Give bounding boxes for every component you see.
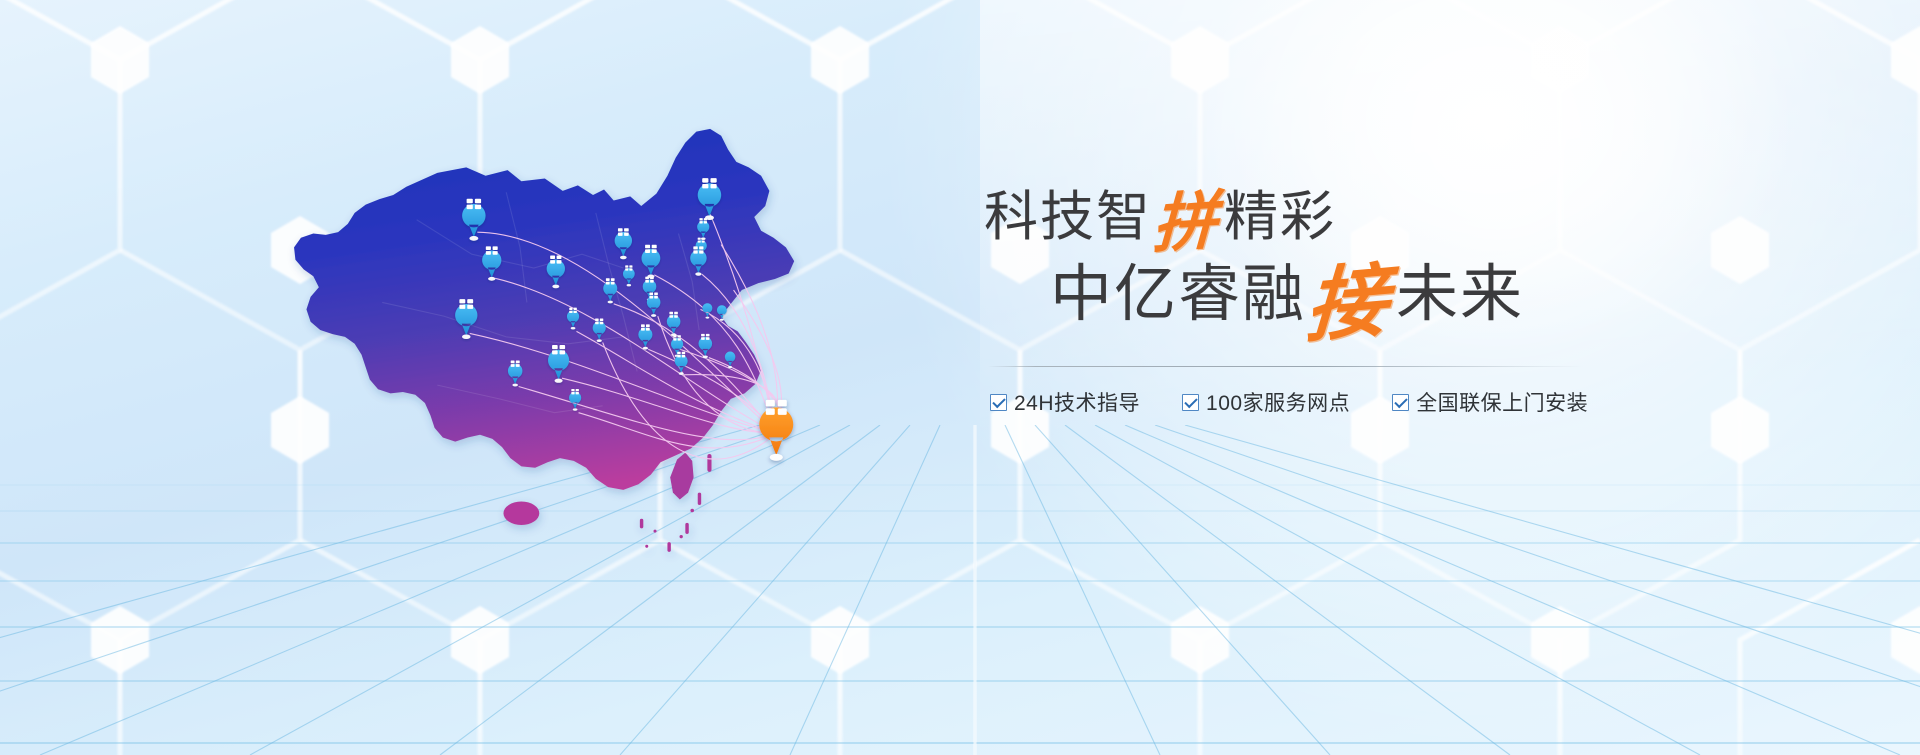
pin-base-dot bbox=[643, 347, 648, 350]
feature-label: 24H技术指导 bbox=[1014, 387, 1140, 417]
hero-banner: 科技智拼精彩 中亿睿融接未来 24H技术指导100家服务网点全国联保上门安装 bbox=[0, 0, 1920, 755]
feature-item: 全国联保上门安装 bbox=[1392, 387, 1588, 417]
checkbox-checked-icon bbox=[1182, 394, 1199, 411]
pin-base-dot bbox=[728, 366, 732, 368]
pin-base-dot bbox=[552, 285, 559, 289]
pin-base-dot bbox=[679, 372, 684, 375]
headline-line-2: 中亿睿融接未来 bbox=[1050, 264, 1660, 336]
pin-base-dot bbox=[651, 314, 656, 317]
headline-line1-pre: 科技智 bbox=[984, 187, 1152, 247]
pin-base-dot bbox=[770, 454, 783, 461]
pin-base-dot bbox=[608, 301, 613, 304]
pin-base-dot bbox=[555, 379, 563, 383]
checkbox-checked-icon bbox=[1392, 394, 1409, 411]
pin-base-dot bbox=[705, 317, 709, 319]
checkbox-checked-icon bbox=[990, 394, 1007, 411]
pin-base-dot bbox=[720, 319, 724, 321]
pin-base-dot bbox=[488, 277, 495, 281]
pin-base-dot bbox=[703, 355, 708, 358]
headline-line-1: 科技智拼精彩 bbox=[984, 190, 1660, 250]
pin-base-dot bbox=[597, 339, 602, 342]
pin-base-dot bbox=[695, 272, 701, 275]
pin-base-dot bbox=[571, 327, 576, 329]
china-service-map bbox=[210, 40, 830, 620]
feature-item: 100家服务网点 bbox=[1182, 387, 1350, 417]
feature-label: 100家服务网点 bbox=[1206, 387, 1350, 417]
headline-line2-pre: 中亿睿融 bbox=[1050, 260, 1306, 329]
headline-line2-accent: 接 bbox=[1304, 261, 1392, 349]
hub-marker[interactable] bbox=[759, 400, 793, 461]
pin-base-dot bbox=[627, 284, 631, 286]
feature-item: 24H技术指导 bbox=[990, 387, 1140, 417]
china-map-svg bbox=[210, 40, 830, 620]
headline-line1-accent: 拼 bbox=[1152, 189, 1221, 257]
feature-list: 24H技术指导100家服务网点全国联保上门安装 bbox=[990, 387, 1660, 417]
pin-base-dot bbox=[573, 408, 578, 410]
headline-divider bbox=[988, 366, 1583, 367]
headline-line1-post: 精彩 bbox=[1224, 187, 1336, 247]
pin-base-dot bbox=[512, 384, 518, 387]
hero-text-block: 科技智拼精彩 中亿睿融接未来 24H技术指导100家服务网点全国联保上门安装 bbox=[960, 190, 1660, 417]
pin-base-dot bbox=[469, 236, 478, 241]
feature-label: 全国联保上门安装 bbox=[1416, 387, 1588, 417]
headline-line2-post: 未来 bbox=[1396, 260, 1524, 329]
pin-base-dot bbox=[462, 335, 471, 339]
pin-base-dot bbox=[620, 256, 627, 259]
